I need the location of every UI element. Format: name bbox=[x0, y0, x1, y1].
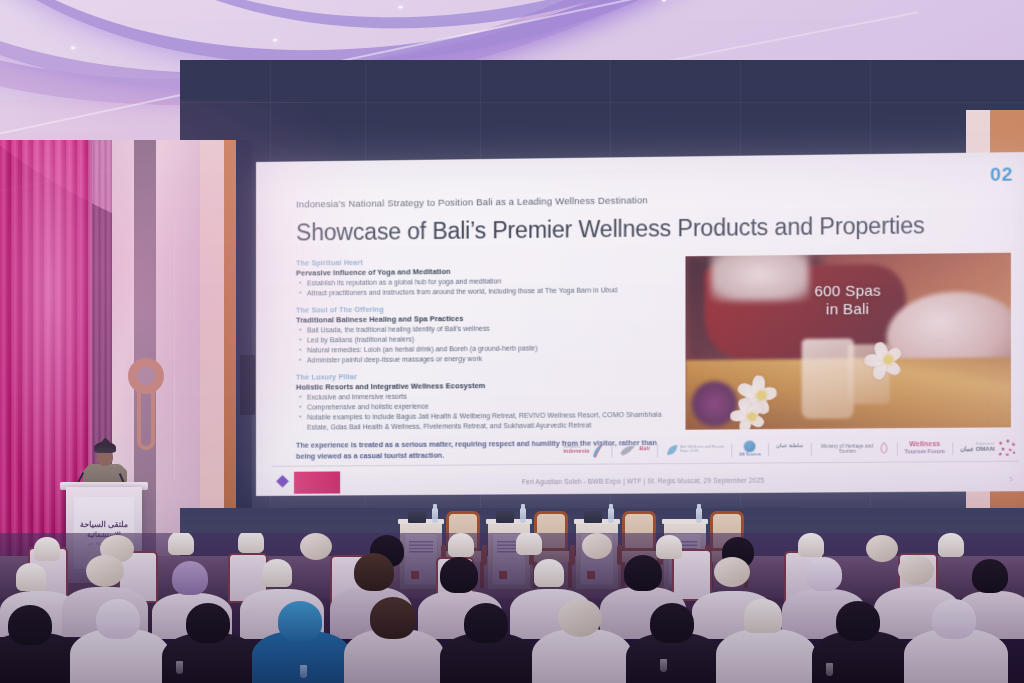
water-glass bbox=[300, 665, 307, 678]
logo-divider bbox=[612, 444, 613, 457]
footer-slide-number: 5 bbox=[1009, 476, 1013, 483]
laptop bbox=[496, 511, 514, 523]
audience-head-hijab bbox=[440, 557, 478, 593]
logo-wellness-tourism-forum: Wellness Tourism Forum bbox=[905, 439, 945, 458]
audience-head-kumma bbox=[168, 533, 194, 555]
logo-main-text: UN Tourism bbox=[739, 453, 761, 457]
audience-head-hair bbox=[370, 597, 416, 639]
audience-head-hijab bbox=[806, 557, 842, 591]
audience-head-massar bbox=[866, 535, 898, 562]
audience-head-massar bbox=[86, 555, 124, 587]
audience-head-kumma bbox=[744, 599, 782, 633]
photo-oil-bottle bbox=[802, 338, 854, 418]
spa-photo: 600 Spas in Bali bbox=[685, 253, 1010, 430]
screen-surface: 02 Indonesia's National Strategy to Posi… bbox=[256, 152, 1024, 496]
copper-ring-stem bbox=[137, 388, 155, 450]
audience-head-massar bbox=[714, 557, 750, 587]
logo-oman-arabic: سلطنة عمان bbox=[776, 440, 803, 458]
audience bbox=[0, 533, 1024, 683]
garuda-icon bbox=[592, 443, 605, 458]
audience-head-hijab bbox=[464, 603, 508, 643]
logo-divider bbox=[657, 444, 658, 457]
audience-head-kumma bbox=[262, 559, 292, 587]
audience-head-kumma bbox=[656, 535, 682, 559]
audience-head-kumma bbox=[238, 533, 264, 553]
section-bullets: Establish its reputation as a global hub… bbox=[296, 276, 671, 300]
audience-head-kumma bbox=[16, 563, 46, 591]
slide-title: Showcase of Bali’s Premier Wellness Prod… bbox=[296, 211, 1011, 246]
sponsor-logo-row: Wonderful indonesia bbox=[505, 436, 1017, 462]
audience-head-massar bbox=[558, 599, 602, 637]
logo-divider bbox=[896, 442, 897, 455]
section-bullets: Exclusive and immersive resorts Comprehe… bbox=[296, 391, 671, 434]
logo-divider bbox=[810, 442, 811, 455]
audience-head-kumma bbox=[448, 533, 474, 557]
water-bottle bbox=[696, 508, 702, 523]
section-heading: Holistic Resorts and Integrative Wellnes… bbox=[296, 379, 671, 391]
slide-footer: Feri Agustian Soleh - BWB Expo | WTF | S… bbox=[256, 461, 1024, 496]
logo-top-text: Wellness bbox=[905, 441, 945, 449]
logo-experience-oman: Experience عمان OMAN bbox=[960, 438, 1017, 457]
udeng-headdress-icon bbox=[94, 442, 116, 453]
logo-divider bbox=[768, 443, 769, 456]
audience-head-hair bbox=[354, 553, 394, 591]
audience-head-hijab bbox=[650, 603, 694, 643]
audience-head-hijab bbox=[186, 603, 230, 643]
water-glass bbox=[826, 663, 833, 676]
audience-head-massar bbox=[898, 555, 934, 585]
audience-shoulders bbox=[532, 629, 632, 683]
oman-dot-pattern-icon bbox=[996, 438, 1017, 456]
laptop bbox=[584, 511, 602, 523]
logo-un-tourism: UN Tourism bbox=[739, 440, 761, 458]
logo-main-text: عمان OMAN bbox=[960, 446, 994, 453]
audience-head-hijab bbox=[172, 561, 208, 595]
logo-bali-wellness-expo: Bali Wellness and Beauty Expo 2025 bbox=[665, 441, 724, 460]
photo-caption: 600 Spas in Bali bbox=[685, 281, 1010, 321]
wall-line bbox=[180, 102, 1024, 103]
logo-main-text: Tourism Forum bbox=[905, 449, 945, 455]
wellness-leaf-icon bbox=[665, 443, 678, 456]
logo-main-text: Bali bbox=[639, 447, 649, 453]
laptop bbox=[408, 511, 426, 523]
audience-head-kumma bbox=[516, 533, 542, 555]
logo-divider bbox=[952, 441, 953, 454]
section-bullets: Bali Usada, the traditional healing iden… bbox=[296, 323, 671, 367]
audience-head-hijab bbox=[278, 601, 322, 641]
conference-hall-photo: 02 Indonesia's National Strategy to Posi… bbox=[0, 0, 1024, 683]
audience-head-kumma bbox=[34, 537, 60, 561]
frankincense-icon bbox=[878, 441, 889, 455]
audience-head-hijab bbox=[96, 599, 140, 639]
audience-head-kumma bbox=[938, 533, 964, 557]
logo-divider bbox=[731, 443, 732, 456]
audience-head-hijab bbox=[932, 599, 976, 639]
footer-credit-text: Feri Agustian Soleh - BWB Expo | WTF | S… bbox=[256, 476, 1024, 488]
photo-caption-line-2: in Bali bbox=[685, 299, 1010, 320]
slide-text-column: The Spiritual Heart Pervasive Influence … bbox=[296, 254, 671, 462]
water-glass bbox=[660, 659, 667, 672]
logo-main-text: Ministry of Heritage and Tourism bbox=[819, 443, 876, 454]
globe-icon bbox=[744, 440, 756, 452]
slide-kicker: Indonesia's National Strategy to Positio… bbox=[296, 191, 1011, 211]
logo-wonderful-indonesia: Wonderful indonesia bbox=[563, 441, 605, 459]
marble-vein bbox=[174, 220, 175, 480]
presentation-slide: 02 Indonesia's National Strategy to Posi… bbox=[256, 152, 1024, 496]
water-glass bbox=[176, 661, 183, 674]
audience-head-hijab bbox=[972, 559, 1008, 593]
audience-shoulders bbox=[716, 629, 816, 683]
bullet-item: Administer painful deep-tissue massages … bbox=[296, 353, 671, 366]
bali-bird-icon bbox=[620, 443, 637, 457]
audience-head-hijab bbox=[8, 605, 52, 645]
audience-head-hijab bbox=[624, 555, 662, 591]
audience-head-kumma bbox=[534, 559, 564, 587]
slide-page-number: 02 bbox=[990, 164, 1013, 187]
slide-body: The Spiritual Heart Pervasive Influence … bbox=[296, 251, 1011, 463]
bullet-item: Notable examples to include Bagus Jati H… bbox=[296, 411, 671, 434]
logo-sub-text bbox=[776, 450, 803, 454]
audience-head-massar bbox=[300, 533, 332, 560]
audience-head-massar bbox=[582, 533, 612, 559]
slide-section-luxury-pillar: The Luxury Pillar Holistic Resorts and I… bbox=[296, 369, 671, 433]
logo-main-text: Expo 2025 bbox=[680, 450, 724, 454]
audience-head-kumma bbox=[798, 533, 824, 557]
logo-ministry-heritage-tourism: Ministry of Heritage and Tourism bbox=[819, 439, 890, 458]
logo-main-text: indonesia bbox=[563, 450, 589, 456]
wall-plate bbox=[240, 355, 255, 415]
marble-vein bbox=[132, 170, 133, 470]
projection-screen: 02 Indonesia's National Strategy to Posi… bbox=[256, 152, 1024, 496]
slide-section-spiritual-heart: The Spiritual Heart Pervasive Influence … bbox=[296, 254, 671, 299]
downlight bbox=[661, 0, 666, 2]
audience-head-hijab bbox=[836, 601, 880, 641]
podium-sign-line-1: ملتقى السياحة bbox=[80, 520, 128, 529]
water-bottle bbox=[432, 508, 438, 523]
water-bottle bbox=[520, 508, 526, 523]
slide-section-soul-of-offering: The Soul of The Offering Traditional Bal… bbox=[296, 302, 671, 367]
water-bottle bbox=[608, 508, 614, 523]
logo-bali: Bali bbox=[620, 441, 650, 459]
slide-photo-column: 600 Spas in Bali bbox=[685, 251, 1010, 460]
